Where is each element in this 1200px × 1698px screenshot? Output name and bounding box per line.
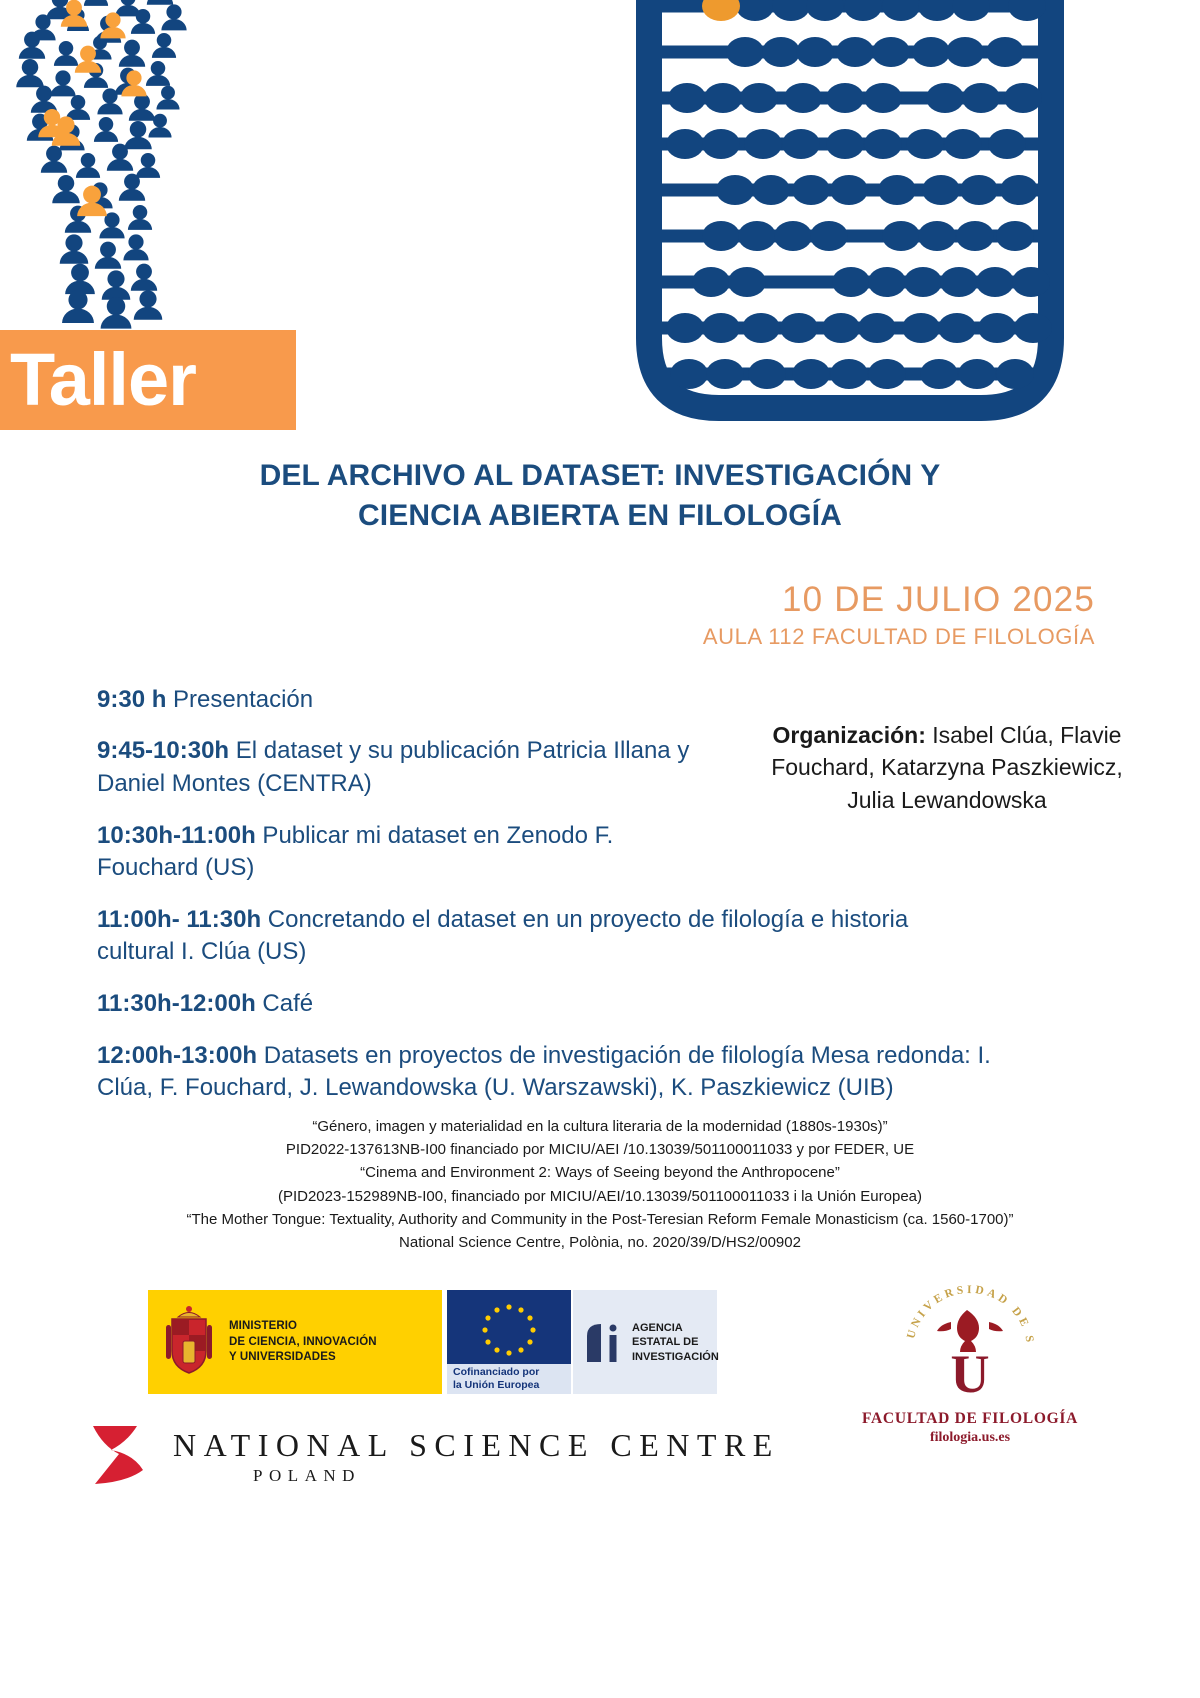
program-and-organization: 9:30 h Presentación 9:45-10:30h El datas… (0, 684, 1200, 1105)
schedule-text: Presentación (166, 686, 313, 713)
schedule-item: 9:45-10:30h El dataset y su publicación … (97, 735, 700, 800)
universidad-sevilla-logo: UNIVERSIDAD DE SEVILLA U FACULTAD DE FIL… (845, 1280, 1095, 1446)
funding-line: “The Mother Tongue: Textuality, Authorit… (0, 1208, 1200, 1231)
abacus-graphic (615, 0, 1085, 438)
funding-acknowledgements: “Género, imagen y materialidad en la cul… (0, 1115, 1200, 1255)
ministerio-line-3: Y UNIVERSIDADES (229, 1350, 377, 1365)
eu-caption: Cofinanciado por la Unión Europea (447, 1364, 571, 1394)
schedule-time: 9:30 h (97, 686, 166, 713)
ministerio-text: MINISTERIO DE CIENCIA, INNOVACIÓN Y UNIV… (229, 1319, 377, 1365)
aei-line-2: ESTATAL DE (632, 1335, 719, 1349)
poster-title: DEL ARCHIVO AL DATASET: INVESTIGACIÓN Y … (0, 456, 1200, 536)
title-line-2: CIENCIA ABIERTA EN FILOLOGÍA (358, 499, 842, 532)
spain-coat-of-arms-icon (158, 1305, 220, 1379)
organization-label: Organización: (773, 722, 926, 748)
schedule-time: 11:00h- 11:30h (97, 906, 261, 933)
aei-line-1: AGENCIA (632, 1321, 719, 1335)
organization-block: Organización: Isabel Clúa, Flavie Foucha… (752, 719, 1142, 817)
ncn-logo-icon (85, 1420, 151, 1492)
funding-line: National Science Centre, Polònia, no. 20… (0, 1231, 1200, 1254)
universidad-sevilla-seal-icon: UNIVERSIDAD DE SEVILLA U (895, 1280, 1045, 1408)
crowd-lightbulb-graphic: Taller (0, 0, 310, 440)
schedule-item: 11:00h- 11:30h Concretando el dataset en… (97, 904, 957, 969)
taller-badge: Taller (0, 330, 296, 430)
eu-flag-icon (447, 1290, 571, 1364)
event-venue: AULA 112 FACULTAD DE FILOLOGÍA (0, 623, 1095, 652)
ministerio-line-1: MINISTERIO (229, 1319, 377, 1334)
aei-text: AGENCIA ESTATAL DE INVESTIGACIÓN (632, 1321, 719, 1364)
ncn-logo: NATIONAL SCIENCE CENTRE POLAND (85, 1420, 825, 1492)
ncn-sub-label: POLAND (253, 1467, 780, 1484)
schedule-item: 10:30h-11:00h Publicar mi dataset en Zen… (97, 820, 700, 885)
funding-line: PID2022-137613NB-I00 financiado por MICI… (0, 1138, 1200, 1161)
svg-text:U: U (951, 1344, 990, 1404)
header-graphics: Taller (0, 0, 1200, 440)
aei-logo: AGENCIA ESTATAL DE INVESTIGACIÓN (573, 1290, 717, 1394)
logo-strip: MINISTERIO DE CIENCIA, INNOVACIÓN Y UNIV… (0, 1280, 1200, 1510)
event-date-block: 10 DE JULIO 2025 AULA 112 FACULTAD DE FI… (0, 580, 1200, 652)
eu-line-1: Cofinanciado por (453, 1366, 571, 1379)
eu-line-2: la Unión Europea (453, 1379, 571, 1392)
schedule-item: 11:30h-12:00h Café (97, 988, 700, 1021)
taller-badge-label: Taller (10, 343, 196, 417)
schedule-item: 12:00h-13:00h Datasets en proyectos de i… (97, 1040, 1027, 1105)
aei-line-3: INVESTIGACIÓN (632, 1350, 719, 1364)
abacus-orange-bead (702, 0, 740, 21)
funding-line: (PID2023-152989NB-I00, financiado por MI… (0, 1185, 1200, 1208)
schedule-time: 12:00h-13:00h (97, 1042, 257, 1069)
aei-logo-icon (581, 1318, 625, 1366)
event-date: 10 DE JULIO 2025 (0, 580, 1095, 620)
eu-logo: Cofinanciado por la Unión Europea (447, 1290, 571, 1394)
ncn-text: NATIONAL SCIENCE CENTRE POLAND (173, 1429, 780, 1484)
title-line-1: DEL ARCHIVO AL DATASET: INVESTIGACIÓN Y (260, 459, 941, 492)
schedule-time: 10:30h-11:00h (97, 822, 256, 849)
us-website[interactable]: filologia.us.es (845, 1430, 1095, 1446)
us-faculty-label: FACULTAD DE FILOLOGÍA (845, 1410, 1095, 1428)
ministerio-line-2: DE CIENCIA, INNOVACIÓN (229, 1335, 377, 1350)
schedule-time: 11:30h-12:00h (97, 990, 256, 1017)
schedule-text: Café (256, 990, 313, 1017)
funding-line: “Cinema and Environment 2: Ways of Seein… (0, 1161, 1200, 1184)
funding-line: “Género, imagen y materialidad en la cul… (0, 1115, 1200, 1138)
ncn-main-label: NATIONAL SCIENCE CENTRE (173, 1429, 780, 1461)
schedule-time: 9:45-10:30h (97, 737, 229, 764)
abacus-icon (615, 0, 1085, 438)
program-schedule: 9:30 h Presentación 9:45-10:30h El datas… (0, 684, 700, 1105)
ministerio-logo: MINISTERIO DE CIENCIA, INNOVACIÓN Y UNIV… (148, 1290, 442, 1394)
schedule-item: 9:30 h Presentación (97, 684, 700, 717)
